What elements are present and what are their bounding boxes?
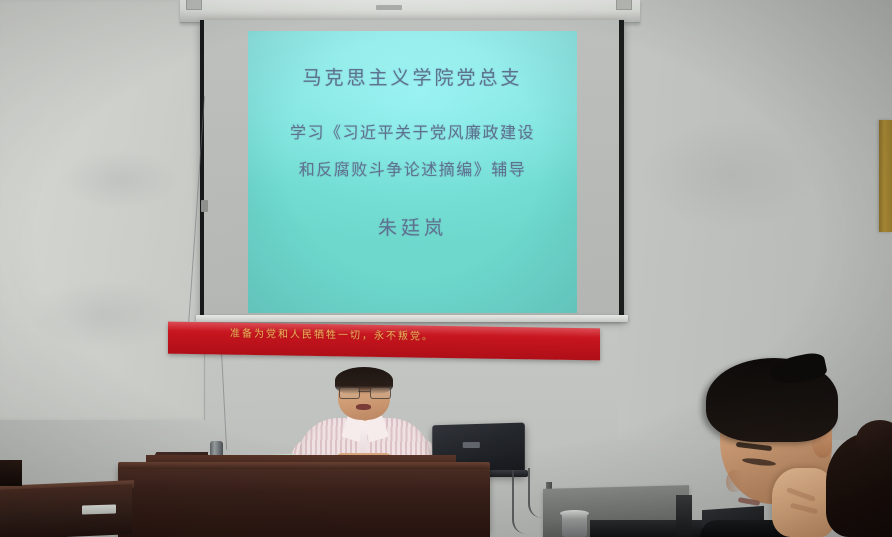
slide-line-three: 和反腐败斗争论述摘编》辅导 — [248, 156, 577, 180]
housing-logo — [376, 5, 402, 10]
speaker-brow-right — [371, 383, 387, 386]
wall-smudge — [30, 280, 180, 350]
wall-smudge — [60, 150, 180, 210]
glasses-lens-left — [339, 387, 360, 399]
audience-man-nose — [726, 470, 742, 492]
paper-on-left-table — [82, 504, 116, 514]
banner-text: 准备为党和人民牺牲一切，永不叛党。 — [230, 325, 434, 343]
projection-screen: 马克思主义学院党总支 学习《习近平关于党风廉政建设 和反腐败斗争论述摘编》辅导 … — [200, 20, 624, 320]
speaker-mouth — [356, 404, 371, 410]
slide-title: 马克思主义学院党总支 — [248, 63, 577, 90]
screen-side-clip — [201, 200, 208, 212]
glasses-bridge — [358, 391, 370, 392]
left-wall-panel — [0, 0, 206, 420]
projected-slide: 马克思主义学院党总支 学习《习近平关于党风廉政建设 和反腐败斗争论述摘编》辅导 … — [248, 31, 577, 313]
screen-bottom-weight-bar — [196, 315, 628, 322]
glasses-lens-right — [370, 387, 391, 399]
wall-smudge — [640, 120, 820, 230]
door-frame-strip — [879, 120, 892, 232]
audience-man-hand — [772, 468, 834, 537]
red-slogan-banner: 准备为党和人民牺牲一切，永不叛党。 — [168, 322, 600, 361]
podium-front-panel — [118, 469, 490, 537]
drinking-cup — [562, 512, 587, 537]
dark-table-surface — [590, 520, 710, 537]
laptop-logo — [463, 442, 480, 448]
glasses-icon — [339, 387, 389, 397]
slide-line-two: 学习《习近平关于党风廉政建设 — [248, 119, 577, 143]
housing-bracket-left — [186, 0, 202, 10]
left-table-dark-corner — [0, 460, 22, 486]
dark-vertical-post — [676, 495, 692, 537]
speaker-brow-left — [341, 383, 357, 386]
slide-author: 朱廷岚 — [248, 213, 577, 240]
lecture-room-photo: 马克思主义学院党总支 学习《习近平关于党风廉政建设 和反腐败斗争论述摘编》辅导 … — [0, 0, 892, 537]
housing-bracket-right — [616, 0, 632, 10]
